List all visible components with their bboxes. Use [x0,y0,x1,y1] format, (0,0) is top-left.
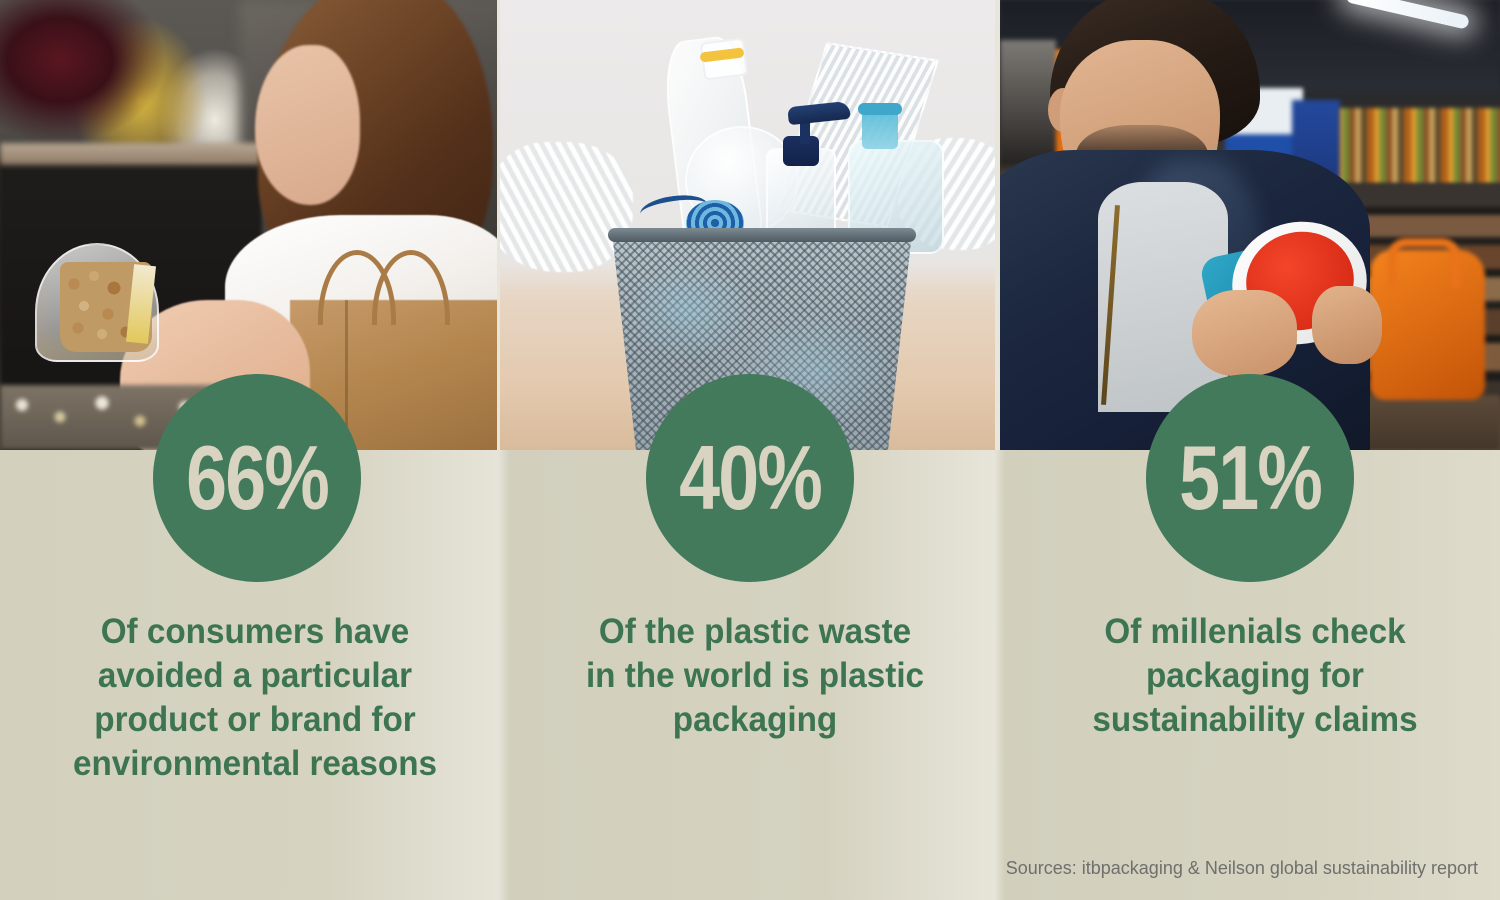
stat-caption-3: Of millenials check packaging for sustai… [1032,610,1479,742]
stat-circle-1: 66% [153,374,361,582]
stat-value-3: 51% [1179,432,1321,523]
stat-caption-1: Of consumers have avoided a particular p… [32,610,479,786]
stat-circle-2: 40% [646,374,854,582]
stat-value-1: 66% [186,432,328,523]
plastic-bag-left [500,142,633,272]
water-bottle-cap-ring [858,103,902,115]
sources-line: Sources: itbpackaging & Neilson global s… [1006,858,1478,879]
man-hand-left [1192,290,1297,376]
stat-circle-3: 51% [1146,374,1354,582]
man-hand-right [1312,286,1382,364]
stat-value-2: 40% [679,432,821,523]
sustainability-stats-infographic: 66% 40% 51% Of consumers have avoided a … [0,0,1500,900]
shopping-cart-handle [1388,238,1460,287]
color-sample-display [1330,108,1500,183]
shopper-face [255,45,360,205]
wastebasket-rim [608,228,916,242]
stat-caption-2: Of the plastic waste in the world is pla… [532,610,979,742]
store-shelf [0,143,270,165]
